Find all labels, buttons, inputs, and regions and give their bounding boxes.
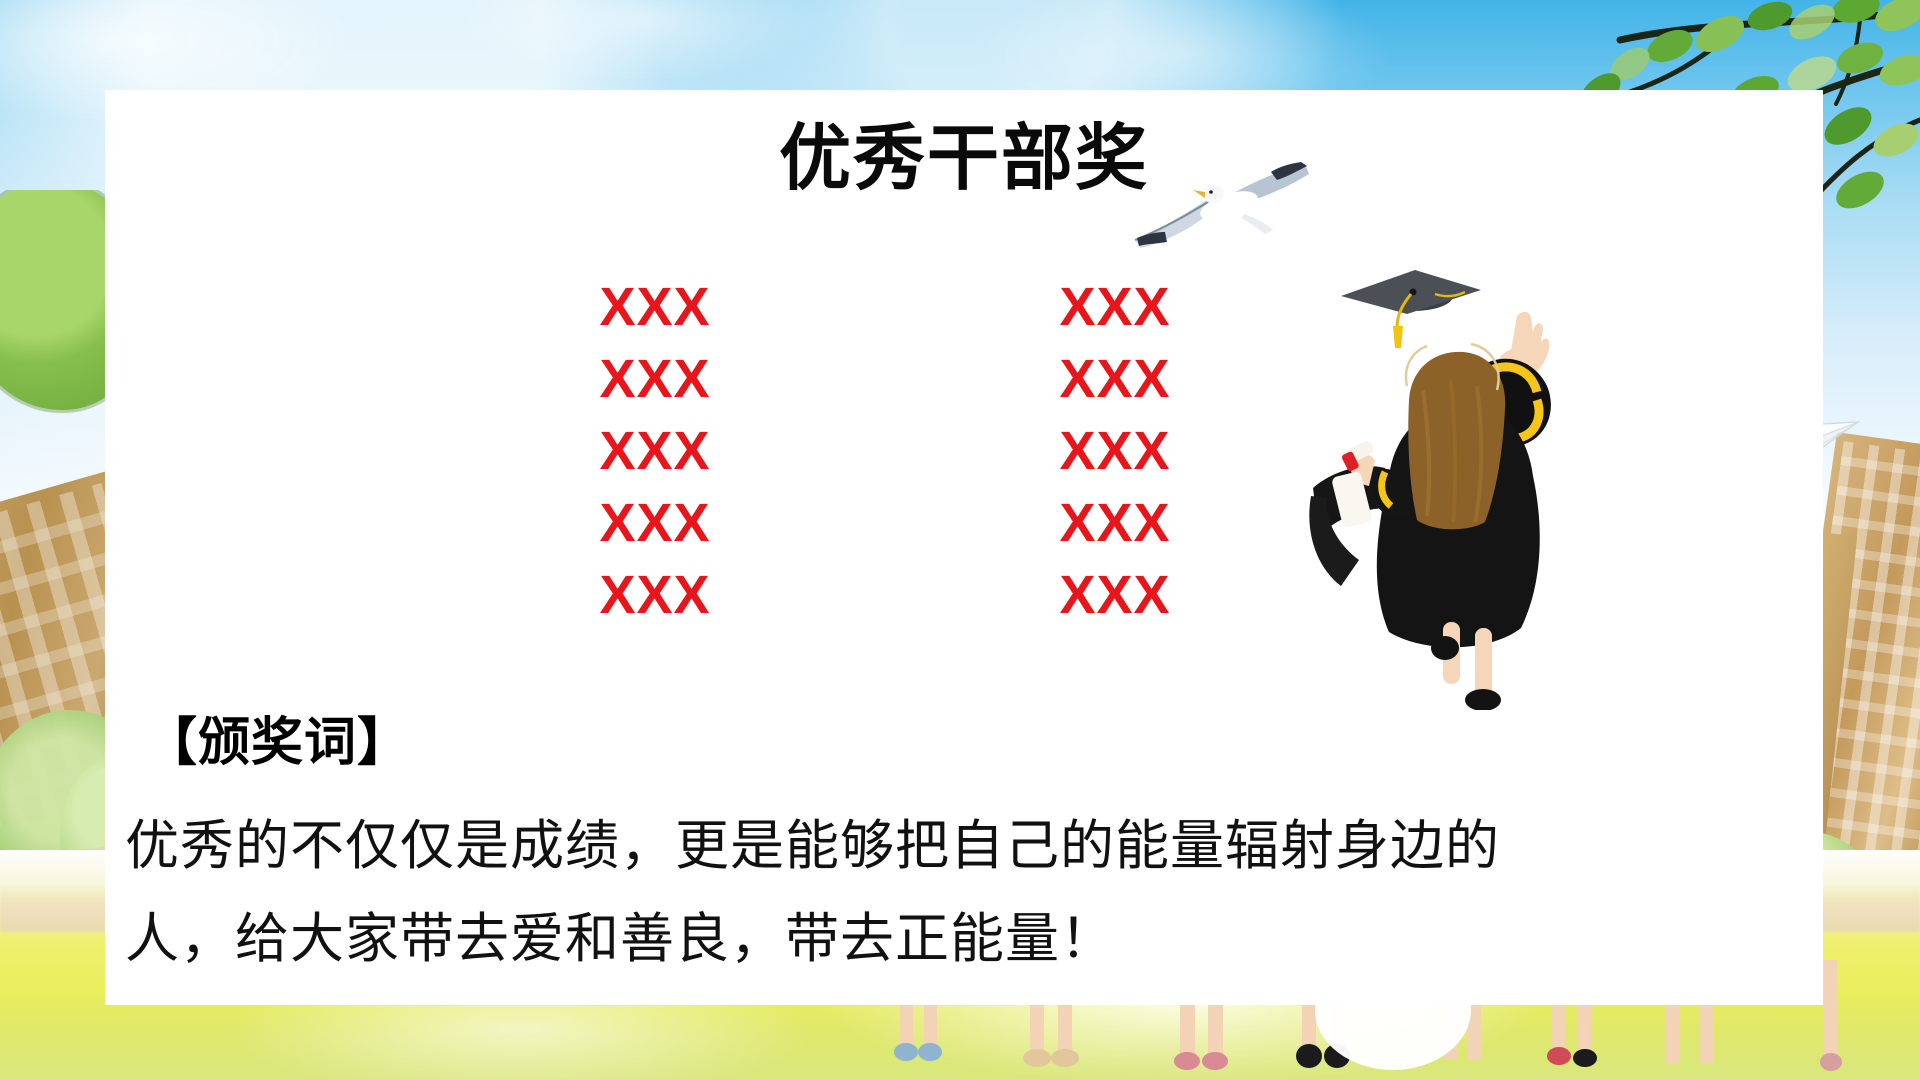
slide-canvas: 优秀干部奖 XXX XXX XXX XXX XXX XXX XXX XXX XX… (0, 0, 1920, 1080)
content-card: 优秀干部奖 XXX XXX XXX XXX XXX XXX XXX XXX XX… (105, 90, 1823, 1005)
awardee-name[interactable]: XXX (985, 496, 1245, 550)
awardee-name[interactable]: XXX (525, 352, 785, 406)
citation-body: 优秀的不仅仅是成绩，更是能够把自己的能量辐射身边的 人，给大家带去爱和善良，带去… (125, 800, 1645, 986)
graduate-illustration (1285, 240, 1605, 710)
awardee-row: XXX XXX (525, 352, 1245, 406)
awardee-row: XXX XXX (525, 280, 1245, 334)
mortarboard-cap-illustration (1341, 270, 1481, 348)
awardee-name[interactable]: XXX (525, 496, 785, 550)
awardee-name[interactable]: XXX (525, 568, 785, 622)
page-title: 优秀干部奖 (105, 120, 1823, 196)
awardee-name[interactable]: XXX (985, 280, 1245, 334)
awardee-list: XXX XXX XXX XXX XXX XXX XXX XXX XXX XXX (525, 280, 1245, 640)
awardee-row: XXX XXX (525, 424, 1245, 478)
awardee-name[interactable]: XXX (985, 424, 1245, 478)
awardee-name[interactable]: XXX (525, 424, 785, 478)
awardee-name[interactable]: XXX (525, 280, 785, 334)
awardee-row: XXX XXX (525, 568, 1245, 622)
awardee-row: XXX XXX (525, 496, 1245, 550)
awardee-name[interactable]: XXX (985, 568, 1245, 622)
citation-line: 人，给大家带去爱和善良，带去正能量！ (125, 893, 1645, 986)
citation-line: 优秀的不仅仅是成绩，更是能够把自己的能量辐射身边的 (125, 800, 1645, 893)
citation-label: 【颁奖词】 (145, 700, 410, 775)
awardee-name[interactable]: XXX (985, 352, 1245, 406)
